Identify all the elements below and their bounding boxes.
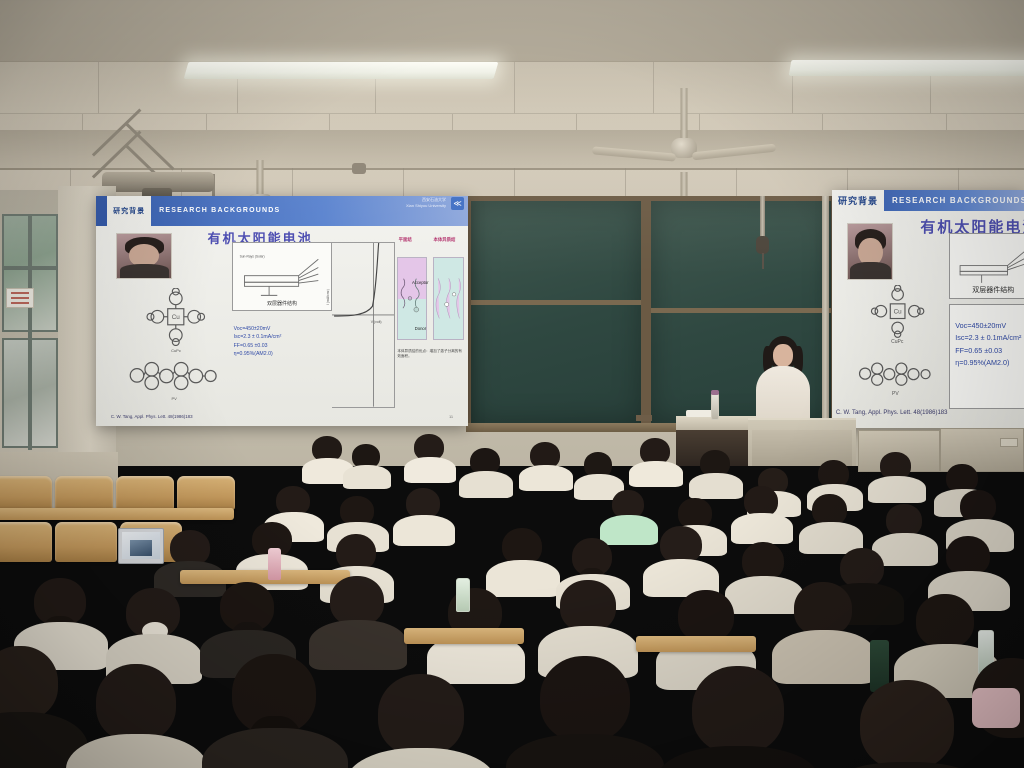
water-bottle-podium bbox=[711, 392, 719, 420]
acceptor-label: Acceptor bbox=[412, 280, 429, 285]
molecule-label-pv: PV bbox=[118, 396, 230, 401]
audience-seating bbox=[0, 430, 1024, 768]
slide-header-number bbox=[96, 196, 107, 226]
university-name: 西安石油大学 Xian Shiyou University bbox=[406, 197, 446, 209]
slide-side: 研究背景 RESEARCH BACKGROUNDS 有机太阳能电池 Cu bbox=[832, 190, 1024, 428]
chalkboard-panel-left bbox=[471, 201, 641, 423]
svg-text:Cu: Cu bbox=[893, 308, 902, 315]
door-notice-sign bbox=[6, 288, 34, 308]
pink-bag bbox=[972, 688, 1020, 728]
desk-plank bbox=[404, 628, 524, 644]
side-device-parameters: Voc=450±20mV Isc=2.3 ± 0.1mA/cm² FF=0.65… bbox=[955, 320, 1021, 370]
university-logo-icon: ≪ bbox=[451, 197, 464, 210]
water-bottle-pink bbox=[268, 548, 281, 580]
side-researcher-portrait bbox=[847, 223, 893, 280]
side-param-isc: Isc=2.3 ± 0.1mA/cm² bbox=[955, 332, 1021, 345]
seat bbox=[55, 476, 113, 510]
param-ff: FF=0.65 ±0.03 bbox=[234, 342, 282, 350]
device-structure-box: Sun-Rays (Solar) 双层器件结构 bbox=[232, 242, 332, 311]
seat bbox=[0, 522, 52, 562]
iv-curve-chart: I (mA/cm²) V (volt) bbox=[332, 242, 395, 408]
param-eta: η=0.95%(AM2.0) bbox=[234, 350, 282, 358]
side-device-caption: 双层器件结构 bbox=[950, 285, 1024, 295]
board-divider bbox=[641, 196, 651, 428]
side-molecule-label-pv: PV bbox=[855, 391, 936, 397]
projection-screen-main: 研究背景 RESEARCH BACKGROUNDS 西安石油大学 Xian Sh… bbox=[96, 196, 468, 426]
presenter bbox=[752, 336, 814, 428]
ceiling bbox=[0, 0, 1024, 210]
presenter-face bbox=[773, 344, 793, 367]
researcher-portrait bbox=[116, 233, 172, 279]
param-voc: Voc=450±20mV bbox=[234, 325, 282, 333]
side-molecule-cupc: Cu CuPc bbox=[865, 285, 930, 337]
bulk-junction-panel bbox=[433, 257, 464, 340]
side-molecule-label-cupc: CuPc bbox=[865, 339, 930, 345]
side-param-eta: η=0.95%(AM2.0) bbox=[955, 357, 1021, 370]
device-parameters: Voc=450±20mV Isc=2.3 ± 0.1mA/cm² FF=0.65… bbox=[234, 325, 282, 359]
molecule-label-cupc: CuPc bbox=[133, 348, 219, 353]
fluorescent-light-panel bbox=[789, 60, 1024, 76]
desk-plank bbox=[0, 508, 234, 520]
seat bbox=[116, 476, 174, 510]
window-mullion bbox=[28, 214, 32, 450]
iv-chart-ylabel: I (mA/cm²) bbox=[326, 289, 330, 305]
bulk-junction-label: 本体异质结 bbox=[433, 237, 455, 243]
seat bbox=[55, 522, 117, 562]
wall-pipe bbox=[822, 196, 829, 436]
side-param-ff: FF=0.65 ±0.03 bbox=[955, 345, 1021, 358]
param-isc: Isc=2.3 ± 0.1mA/cm² bbox=[234, 333, 282, 341]
board-rail bbox=[651, 308, 831, 313]
molecule-cupc: Cu CuPc bbox=[133, 288, 219, 346]
side-header-english: RESEARCH BACKGROUNDS bbox=[884, 190, 1024, 211]
laptop bbox=[118, 528, 164, 564]
side-molecule-pv: PV bbox=[855, 357, 936, 390]
microphone-cable bbox=[762, 253, 764, 269]
bottle-cap bbox=[711, 390, 719, 395]
svg-text:Sun-Rays (Solar): Sun-Rays (Solar) bbox=[239, 255, 264, 259]
molecule-pv: PV bbox=[118, 357, 230, 394]
desk-plank bbox=[636, 636, 756, 652]
projection-screen-side: 研究背景 RESEARCH BACKGROUNDS 有机太阳能电池 Cu bbox=[832, 190, 1024, 428]
desk-plank bbox=[180, 570, 350, 584]
window-mullion bbox=[2, 266, 58, 270]
microphone-head bbox=[756, 236, 769, 254]
seat bbox=[0, 476, 52, 510]
fluorescent-light-panel bbox=[184, 62, 499, 79]
slide-header-chinese: 研究背景 bbox=[107, 206, 151, 216]
slide-header: 研究背景 RESEARCH BACKGROUNDS 西安石油大学 Xian Sh… bbox=[96, 196, 468, 226]
device-structure-caption: 双层器件结构 bbox=[233, 300, 331, 307]
side-header-chinese: 研究背景 bbox=[832, 194, 884, 207]
side-slide-header: 研究背景 RESEARCH BACKGROUNDS bbox=[832, 190, 1024, 211]
side-param-box: Voc=450±20mV Isc=2.3 ± 0.1mA/cm² FF=0.65… bbox=[949, 304, 1024, 409]
planar-junction-label: 平面结 bbox=[399, 237, 412, 243]
lecture-hall-photo: 研究背景 RESEARCH BACKGROUNDS 西安石油大学 Xian Sh… bbox=[0, 0, 1024, 768]
side-param-voc: Voc=450±20mV bbox=[955, 320, 1021, 333]
slide-citation: C. W. Tang, Appl. Phys. Lett. 48(1986)18… bbox=[111, 414, 193, 419]
ceiling-speaker bbox=[352, 163, 366, 174]
board-rail bbox=[471, 300, 641, 305]
ceiling-fan bbox=[636, 88, 732, 172]
donor-label: Donor bbox=[415, 326, 426, 331]
scissor-lift bbox=[126, 122, 182, 174]
seat-row-empty bbox=[0, 476, 238, 510]
hanging-microphone bbox=[760, 196, 765, 238]
water-bottle bbox=[456, 578, 470, 612]
slide-main: 研究背景 RESEARCH BACKGROUNDS 西安石油大学 Xian Sh… bbox=[96, 196, 468, 426]
svg-text:Cu: Cu bbox=[172, 314, 181, 321]
seat bbox=[177, 476, 235, 510]
heterojunction-note: 本体异质结的优点：增加了激子分离的有效面积。 bbox=[397, 349, 464, 360]
side-slide-citation: C. W. Tang, Appl. Phys. Lett. 48(1986)18… bbox=[836, 410, 948, 416]
heterojunction-diagram: 平面结 本体异质结 bbox=[397, 237, 464, 380]
chalk-piece bbox=[636, 415, 652, 421]
slide-page-number: 11 bbox=[449, 414, 453, 419]
iv-chart-xlabel: V (volt) bbox=[371, 320, 382, 324]
side-device-structure-box: 双层器件结构 bbox=[949, 233, 1024, 300]
